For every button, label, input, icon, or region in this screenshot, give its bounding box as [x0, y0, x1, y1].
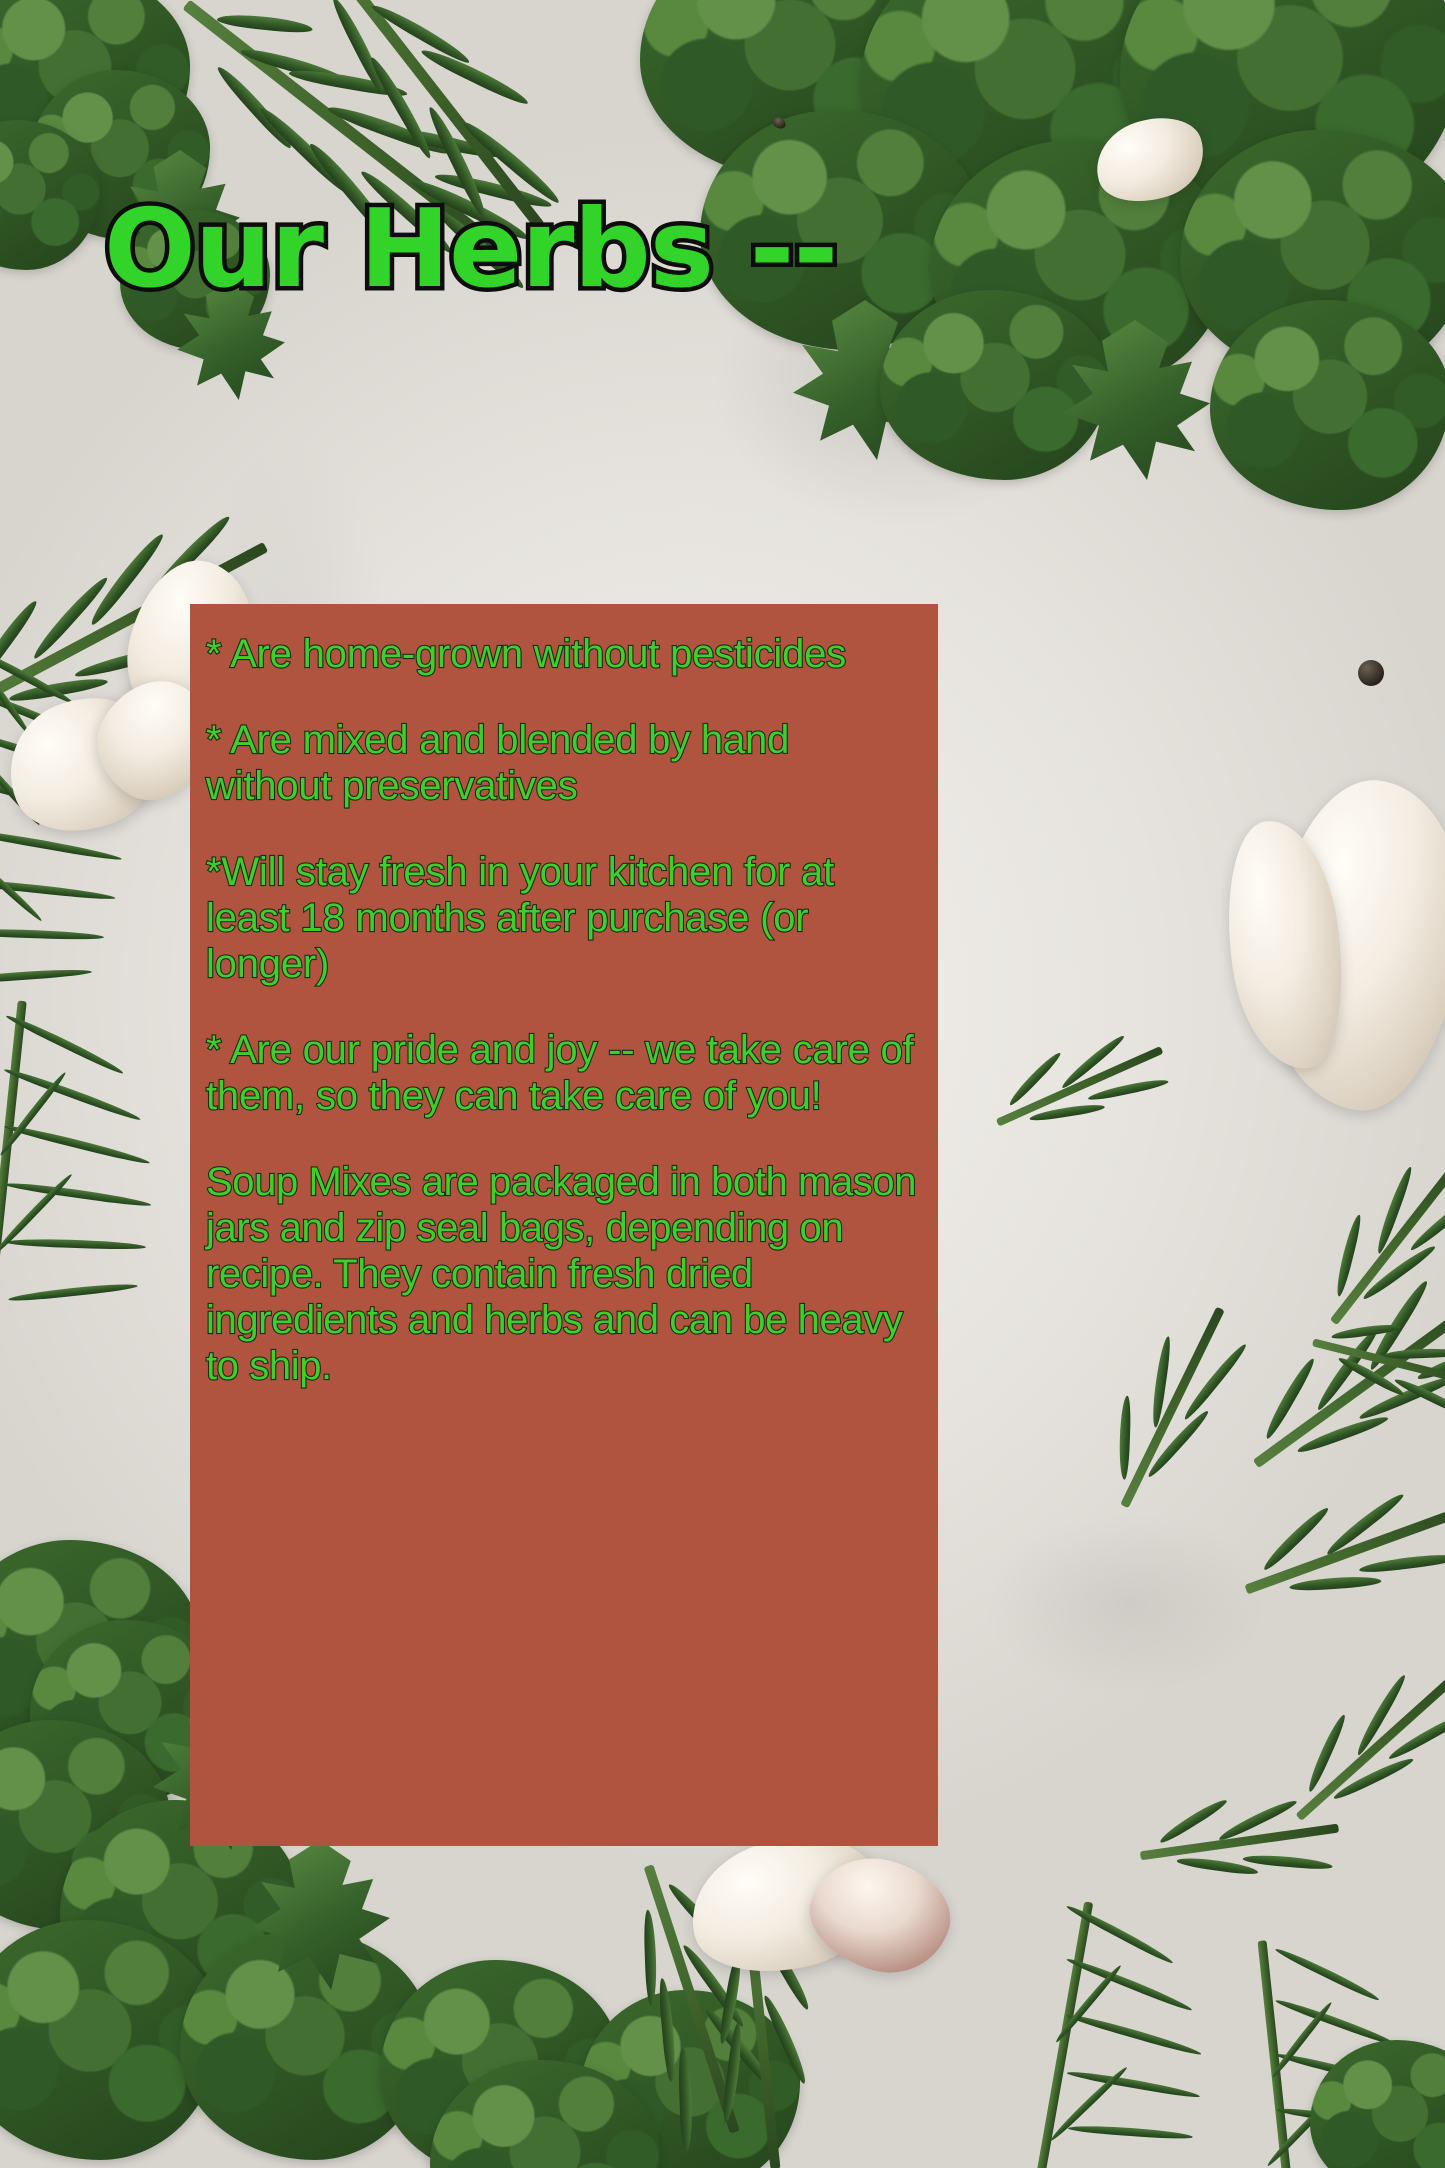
parsley-leaf [1210, 300, 1445, 510]
bullet-home-grown: * Are home-grown without pesticides [206, 631, 922, 677]
rosemary-sprig [1128, 1736, 1372, 1955]
bullet-shelf-life: *Will stay fresh in your kitchen for at … [206, 849, 922, 987]
bullet-hand-blended: * Are mixed and blended by hand without … [206, 717, 922, 809]
page-title: Our Herbs -- [104, 196, 1204, 304]
bullet-pride-and-joy: * Are our pride and joy -- we take care … [206, 1027, 922, 1119]
soup-mix-packaging-note: Soup Mixes are packaged in both mason ja… [206, 1159, 922, 1389]
info-panel-body: * Are home-grown without pesticides * Ar… [206, 631, 922, 1389]
peppercorn [1358, 660, 1384, 686]
poster-canvas: Our Herbs -- * Are home-grown without pe… [0, 0, 1445, 2168]
parsley-leaf [880, 290, 1110, 480]
info-panel: * Are home-grown without pesticides * Ar… [190, 604, 938, 1846]
